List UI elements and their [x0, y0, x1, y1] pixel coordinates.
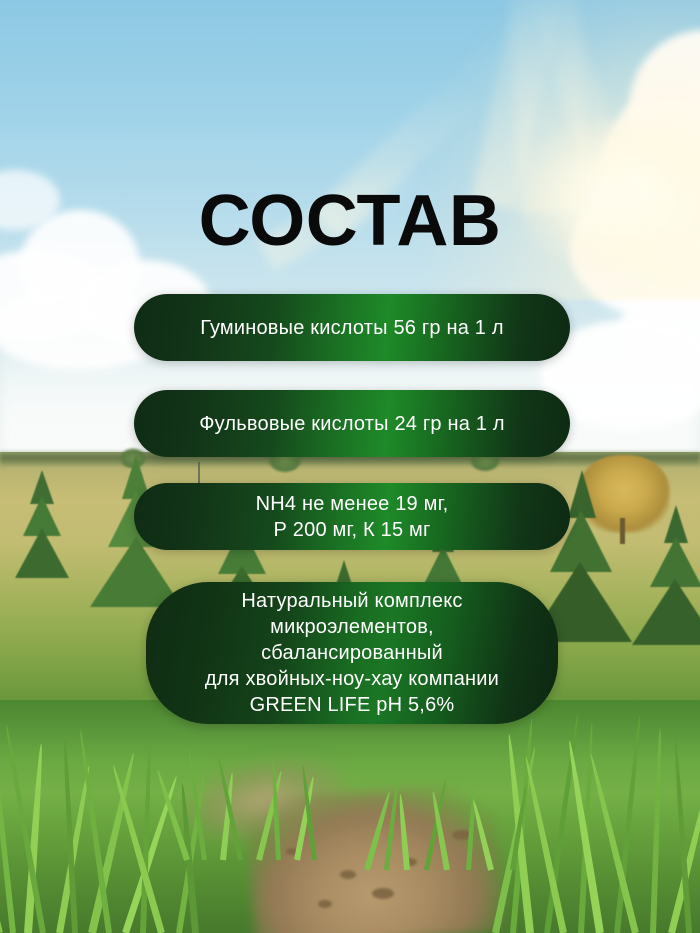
composition-item-line: GREEN LIFE pH 5,6% — [205, 692, 499, 718]
composition-item-npk[interactable]: NH4 не менее 19 мг, Р 200 мг, К 15 мг — [134, 483, 570, 550]
poster-content: СОСТАВ Гуминовые кислоты 56 гр на 1 л Фу… — [0, 0, 700, 933]
composition-item-text: Фульвовые кислоты 24 гр на 1 л — [185, 411, 519, 437]
composition-item-line: микроэлементов, — [205, 614, 499, 640]
composition-item-microelements[interactable]: Натуральный комплекс микроэлементов, сба… — [146, 582, 558, 724]
composition-item-humic-acids[interactable]: Гуминовые кислоты 56 гр на 1 л — [134, 294, 570, 361]
composition-poster: СОСТАВ Гуминовые кислоты 56 гр на 1 л Фу… — [0, 0, 700, 933]
composition-item-line: Натуральный комплекс — [205, 588, 499, 614]
composition-item-text: Гуминовые кислоты 56 гр на 1 л — [186, 315, 517, 341]
composition-item-line: NH4 не менее 19 мг, — [256, 491, 449, 517]
composition-item-line: Р 200 мг, К 15 мг — [256, 517, 449, 543]
composition-item-fulvic-acids[interactable]: Фульвовые кислоты 24 гр на 1 л — [134, 390, 570, 457]
composition-item-line: Гуминовые кислоты 56 гр на 1 л — [200, 315, 503, 341]
composition-item-line: сбалансированный — [205, 640, 499, 666]
page-title: СОСТАВ — [0, 185, 700, 257]
composition-item-line: для хвойных-ноу-хау компании — [205, 666, 499, 692]
composition-item-line: Фульвовые кислоты 24 гр на 1 л — [199, 411, 505, 437]
composition-item-text: Натуральный комплекс микроэлементов, сба… — [191, 588, 513, 718]
composition-item-text: NH4 не менее 19 мг, Р 200 мг, К 15 мг — [242, 491, 463, 543]
